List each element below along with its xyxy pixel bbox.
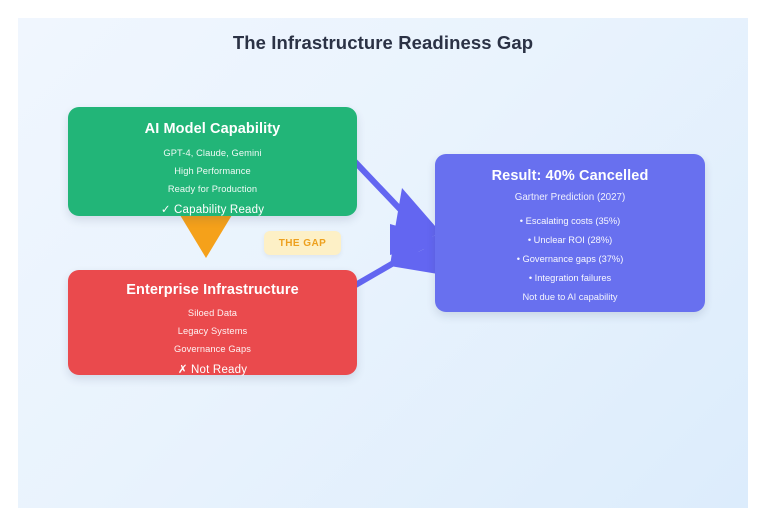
the-gap-badge: THE GAP — [264, 231, 341, 255]
card-result[interactable]: Result: 40% Cancelled Gartner Prediction… — [435, 154, 705, 312]
capability-status-badge: ✓ Capability Ready — [68, 202, 357, 216]
card-ai-model-capability[interactable]: AI Model Capability GPT-4, Claude, Gemin… — [68, 107, 357, 216]
capability-line-2: High Performance — [68, 166, 357, 176]
diagram-canvas: The Infrastructure Readiness Gap AI Mode… — [18, 18, 748, 508]
page-title: The Infrastructure Readiness Gap — [18, 32, 748, 54]
capability-line-3: Ready for Production — [68, 184, 357, 194]
infrastructure-line-1: Siloed Data — [68, 308, 357, 318]
gap-badge-label: THE GAP — [279, 238, 327, 249]
result-bullet-3: • Governance gaps (37%) — [435, 254, 705, 264]
infrastructure-line-3: Governance Gaps — [68, 344, 357, 354]
result-bullet-1: • Escalating costs (35%) — [435, 216, 705, 226]
result-footer: Not due to AI capability — [435, 292, 705, 302]
result-bullet-4: • Integration failures — [435, 273, 705, 283]
card-enterprise-infrastructure[interactable]: Enterprise Infrastructure Siloed Data Le… — [68, 270, 357, 375]
result-subtitle: Gartner Prediction (2027) — [435, 192, 705, 203]
infrastructure-line-2: Legacy Systems — [68, 326, 357, 336]
card-title-capability: AI Model Capability — [68, 121, 357, 137]
result-bullet-2: • Unclear ROI (28%) — [435, 235, 705, 245]
infrastructure-status-badge: ✗ Not Ready — [68, 362, 357, 376]
card-title-infrastructure: Enterprise Infrastructure — [68, 282, 357, 298]
card-title-result: Result: 40% Cancelled — [435, 168, 705, 184]
capability-line-1: GPT-4, Claude, Gemini — [68, 148, 357, 158]
